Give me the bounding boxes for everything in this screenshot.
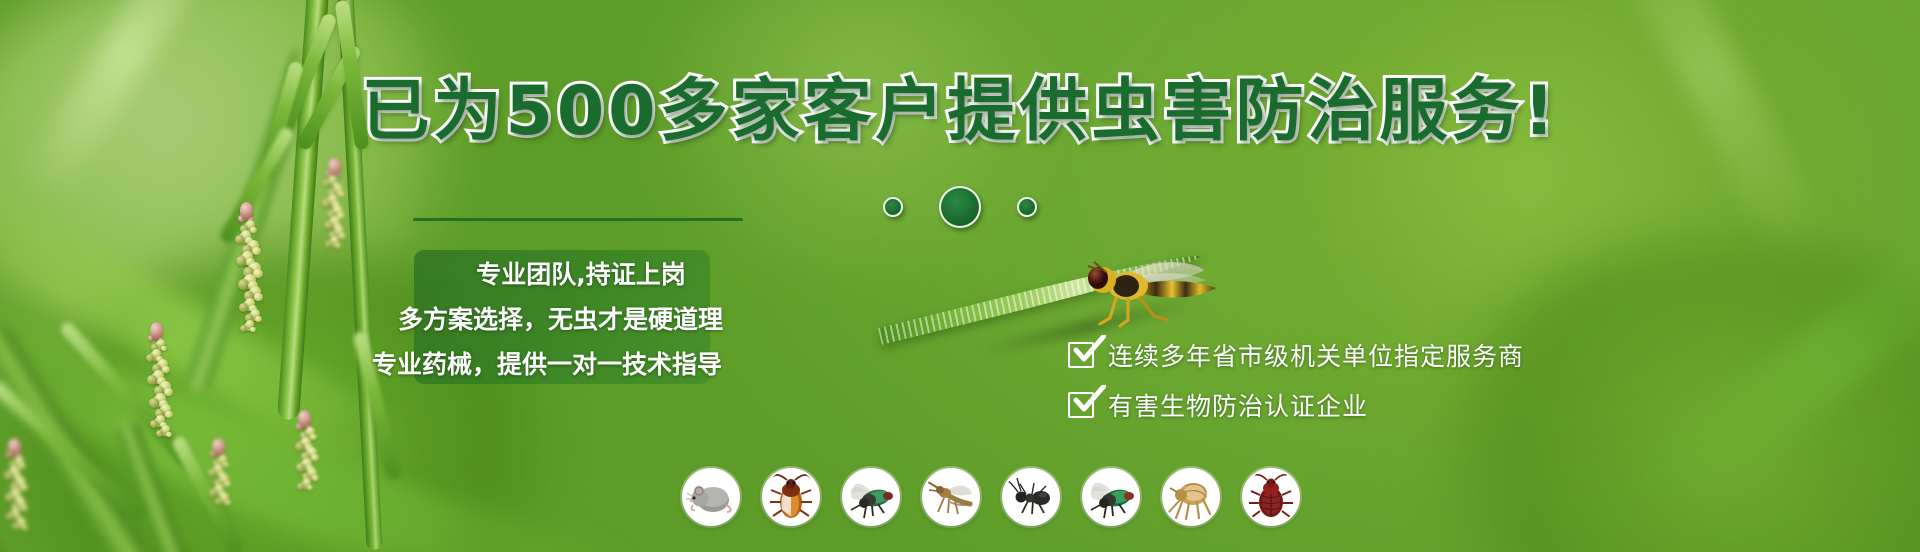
ant-icon [1006, 472, 1056, 522]
panel-line-1: 专业团队,持证上岗 [414, 255, 724, 291]
pest-icon-bedbug[interactable] [1242, 468, 1300, 526]
mouse-icon [686, 472, 736, 522]
checklist-item-2-label: 有害生物防治认证企业 [1108, 387, 1368, 423]
checklist-item-2: 有害生物防治认证企业 [1068, 380, 1524, 430]
panel-line-3: 专业药械，提供一对一技术指导 [372, 345, 682, 381]
blowfly-icon [1086, 472, 1136, 522]
panel-line-2: 多方案选择，无虫才是硬道理 [392, 300, 702, 336]
hoverfly-icon [1076, 256, 1226, 330]
dot-small-right [1017, 197, 1037, 217]
checklist-item-1: 连续多年省市级机关单位指定服务商 [1068, 330, 1524, 380]
pest-icon-mouse[interactable] [682, 468, 740, 526]
decorative-dots [0, 186, 1920, 228]
dot-small-left [883, 197, 903, 217]
mosquito-icon [926, 472, 976, 522]
pest-icon-ant[interactable] [1002, 468, 1060, 526]
bedbug-icon [1246, 472, 1296, 522]
pest-icon-mosquito[interactable] [922, 468, 980, 526]
pest-icon-flea[interactable] [1162, 468, 1220, 526]
flea-icon [1166, 472, 1216, 522]
checkbox-checked-icon [1068, 392, 1094, 418]
dot-large-center [939, 186, 981, 228]
page-title: 已为500多家客户提供虫害防治服务! [0, 78, 1920, 146]
checkbox-checked-icon [1068, 342, 1094, 368]
cockroach-icon [766, 472, 816, 522]
checklist-item-1-label: 连续多年省市级机关单位指定服务商 [1108, 337, 1524, 373]
feature-panel-text: 专业团队,持证上岗 多方案选择，无虫才是硬道理 专业药械，提供一对一技术指导 [414, 248, 724, 388]
pest-control-banner: 已为500多家客户提供虫害防治服务! 专业团队,持证上岗 多方案选择，无虫才是硬… [0, 0, 1920, 552]
pest-icon-blowfly[interactable] [1082, 468, 1140, 526]
pest-icon-strip [682, 468, 1300, 526]
pest-icon-cockroach[interactable] [762, 468, 820, 526]
fly-icon [846, 472, 896, 522]
divider [413, 218, 743, 221]
pest-icon-fly[interactable] [842, 468, 900, 526]
headline-text: 已为500多家客户提供虫害防治服务! [362, 72, 1559, 151]
checklist: 连续多年省市级机关单位指定服务商 有害生物防治认证企业 [1068, 330, 1524, 430]
